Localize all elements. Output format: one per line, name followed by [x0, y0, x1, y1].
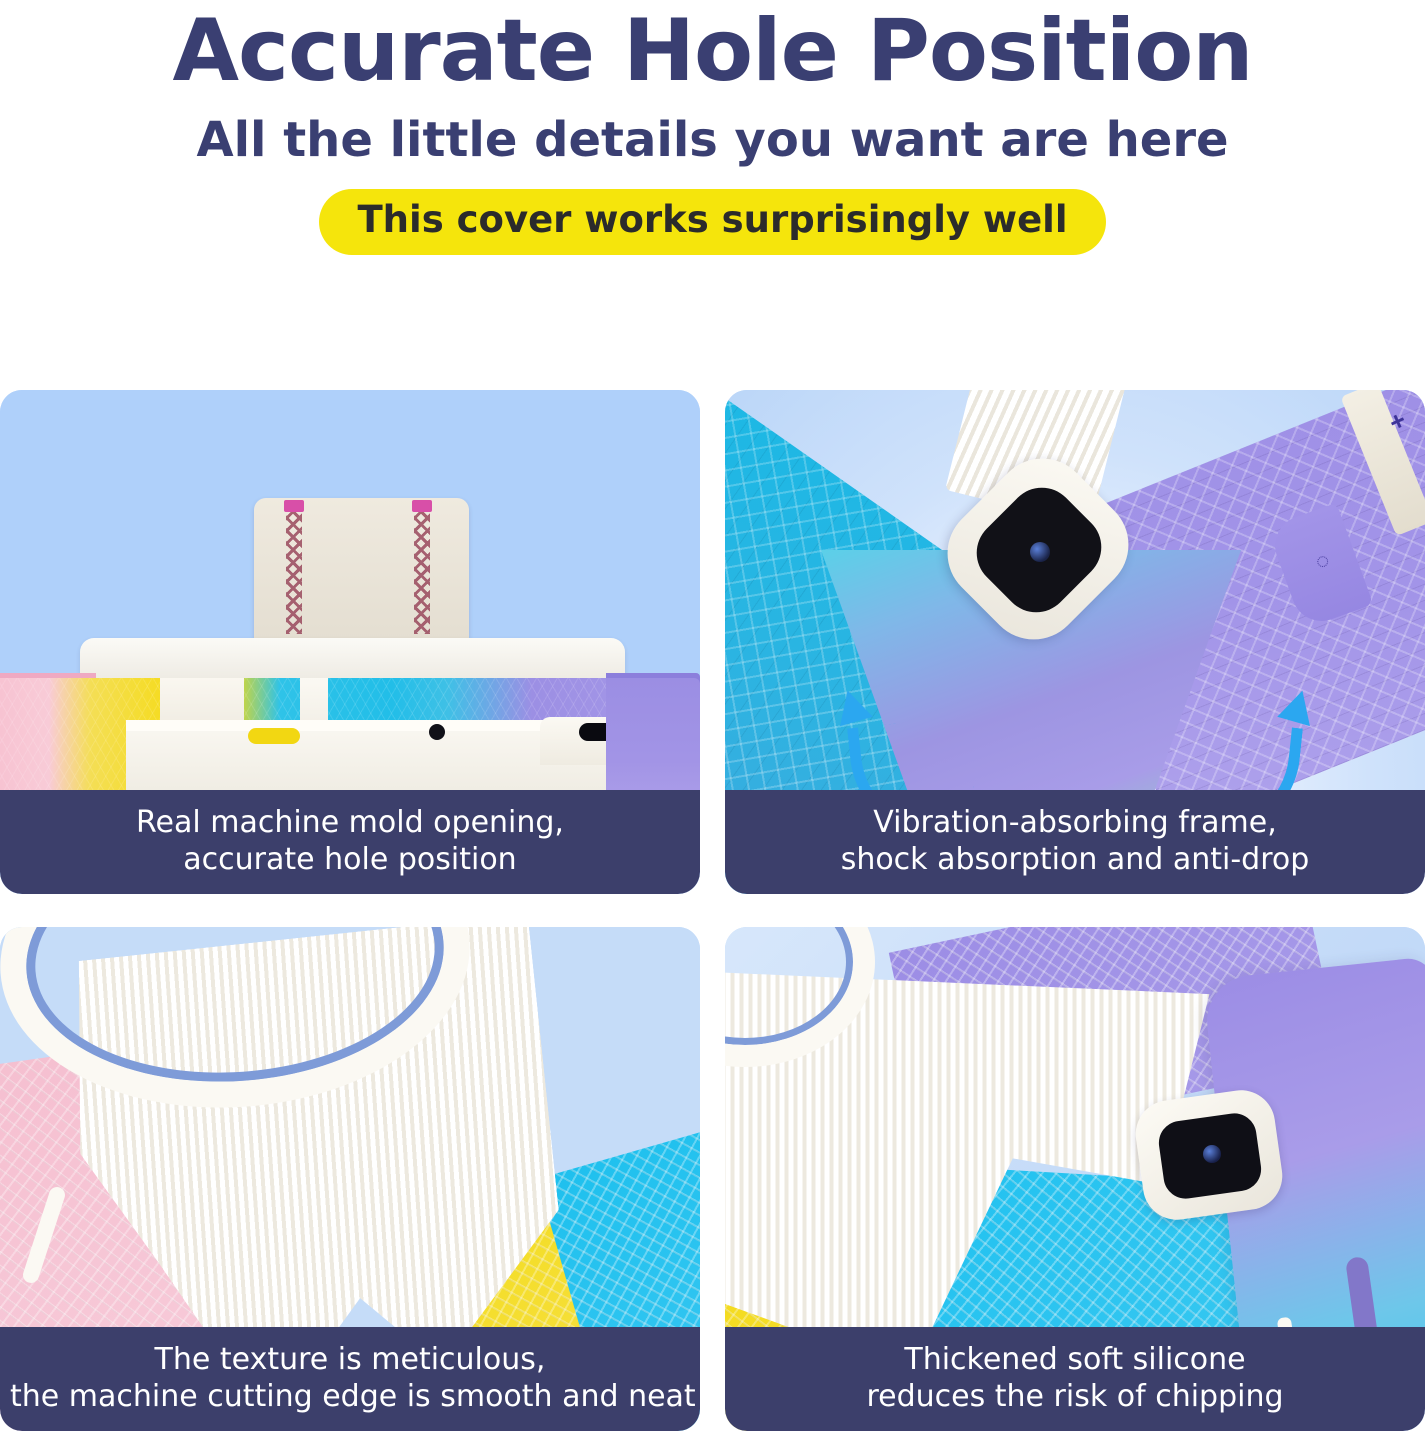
- kickstand-strap: [254, 498, 469, 643]
- panel-caption: Real machine mold opening, accurate hole…: [0, 790, 700, 894]
- caption-line-1: Vibration-absorbing frame,: [735, 804, 1415, 841]
- stitch-cap-left: [284, 500, 304, 512]
- caption-line-1: Thickened soft silicone: [735, 1341, 1415, 1378]
- caption-line-1: The texture is meticulous,: [10, 1341, 690, 1378]
- panel-hole-position: Real machine mold opening, accurate hole…: [0, 390, 700, 894]
- panel-caption: Thickened soft silicone reduces the risk…: [725, 1327, 1425, 1431]
- page-subtitle: All the little details you want are here: [0, 114, 1425, 167]
- page-title: Accurate Hole Position: [0, 6, 1425, 96]
- panel-thick-silicone: Thickened soft silicone reduces the risk…: [725, 927, 1425, 1431]
- header: Accurate Hole Position All the little de…: [0, 0, 1425, 255]
- caption-line-2: shock absorption and anti-drop: [735, 841, 1415, 878]
- camera-lens-icon: [1203, 1145, 1221, 1163]
- caption-line-2: accurate hole position: [10, 841, 690, 878]
- badge-container: This cover works surprisingly well: [0, 189, 1425, 255]
- stitch-cap-right: [412, 500, 432, 512]
- panel-vibration-absorbing: ◌ + Vibration-absorbing frame, shock abs…: [725, 390, 1425, 894]
- panel-texture: The texture is meticulous, the machine c…: [0, 927, 700, 1431]
- camera-lens-icon: [1030, 542, 1050, 562]
- yellow-tab: [248, 728, 300, 744]
- white-hinge-bar: [80, 638, 625, 683]
- zigzag-stitch-left-icon: [286, 504, 302, 634]
- microphone-hole-icon: [429, 724, 445, 740]
- panel-caption: Vibration-absorbing frame, shock absorpt…: [725, 790, 1425, 894]
- caption-line-2: the machine cutting edge is smooth and n…: [10, 1378, 690, 1415]
- feature-grid: Real machine mold opening, accurate hole…: [0, 390, 1425, 1438]
- caption-line-2: reduces the risk of chipping: [735, 1378, 1415, 1415]
- zigzag-stitch-right-icon: [414, 504, 430, 634]
- caption-line-1: Real machine mold opening,: [10, 804, 690, 841]
- panel-caption: The texture is meticulous, the machine c…: [0, 1327, 700, 1431]
- highlight-badge: This cover works surprisingly well: [319, 189, 1105, 255]
